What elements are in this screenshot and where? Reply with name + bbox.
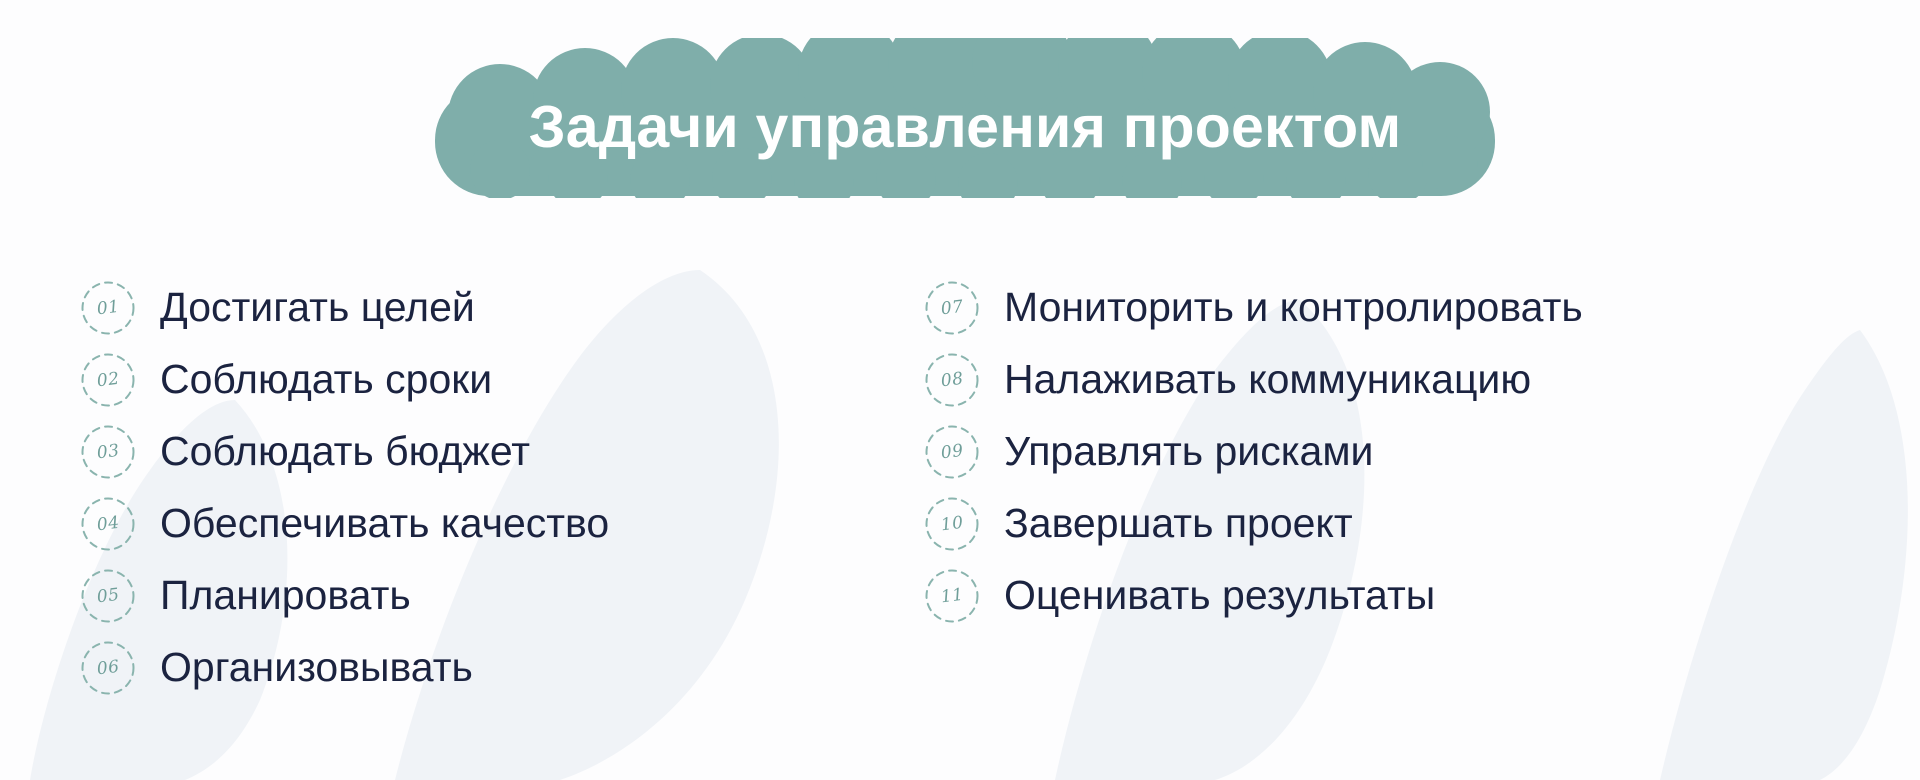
list-item[interactable]: 10 Завершать проект — [922, 488, 1822, 560]
list-item[interactable]: 11 Оценивать результаты — [922, 560, 1822, 632]
task-label: Обеспечивать качество — [160, 502, 609, 545]
task-label: Оценивать результаты — [1004, 574, 1435, 617]
list-item[interactable]: 05 Планировать — [78, 560, 858, 632]
list-item[interactable]: 02 Соблюдать сроки — [78, 344, 858, 416]
badge-number: 05 — [96, 586, 121, 606]
task-label: Мониторить и контролировать — [1004, 286, 1583, 329]
slide-canvas: Задачи управления проектом 01 Достигать … — [0, 0, 1920, 780]
task-list-right: 07 Мониторить и контролировать 08 Налажи… — [922, 272, 1822, 632]
list-item[interactable]: 08 Налаживать коммуникацию — [922, 344, 1822, 416]
number-badge-icon: 07 — [922, 278, 982, 338]
number-badge-icon: 06 — [78, 638, 138, 698]
badge-number: 08 — [940, 370, 965, 390]
number-badge-icon: 01 — [78, 278, 138, 338]
number-badge-icon: 02 — [78, 350, 138, 410]
task-label: Налаживать коммуникацию — [1004, 358, 1531, 401]
number-badge-icon: 10 — [922, 494, 982, 554]
number-badge-icon: 09 — [922, 422, 982, 482]
list-item[interactable]: 06 Организовывать — [78, 632, 858, 704]
task-list-left: 01 Достигать целей 02 Соблюдать сроки 03… — [78, 272, 858, 704]
list-item[interactable]: 03 Соблюдать бюджет — [78, 416, 858, 488]
list-item[interactable]: 04 Обеспечивать качество — [78, 488, 858, 560]
task-label: Управлять рисками — [1004, 430, 1373, 473]
badge-number: 01 — [96, 298, 121, 318]
task-label: Соблюдать бюджет — [160, 430, 530, 473]
badge-number: 10 — [940, 514, 965, 534]
task-label: Планировать — [160, 574, 411, 617]
number-badge-icon: 03 — [78, 422, 138, 482]
list-item[interactable]: 09 Управлять рисками — [922, 416, 1822, 488]
task-label: Завершать проект — [1004, 502, 1353, 545]
list-item[interactable]: 07 Мониторить и контролировать — [922, 272, 1822, 344]
page-title: Задачи управления проектом — [410, 38, 1520, 198]
number-badge-icon: 04 — [78, 494, 138, 554]
badge-number: 04 — [96, 514, 121, 534]
badge-number: 06 — [96, 658, 121, 678]
title-banner: Задачи управления проектом — [410, 38, 1520, 198]
number-badge-icon: 05 — [78, 566, 138, 626]
task-columns: 01 Достигать целей 02 Соблюдать сроки 03… — [0, 272, 1920, 704]
badge-number: 03 — [96, 442, 121, 462]
badge-number: 09 — [940, 442, 965, 462]
list-item[interactable]: 01 Достигать целей — [78, 272, 858, 344]
task-label: Организовывать — [160, 646, 473, 689]
number-badge-icon: 08 — [922, 350, 982, 410]
task-label: Соблюдать сроки — [160, 358, 492, 401]
badge-number: 02 — [96, 370, 121, 390]
badge-number: 11 — [940, 586, 965, 606]
task-label: Достигать целей — [160, 286, 475, 329]
number-badge-icon: 11 — [922, 566, 982, 626]
badge-number: 07 — [940, 298, 965, 318]
